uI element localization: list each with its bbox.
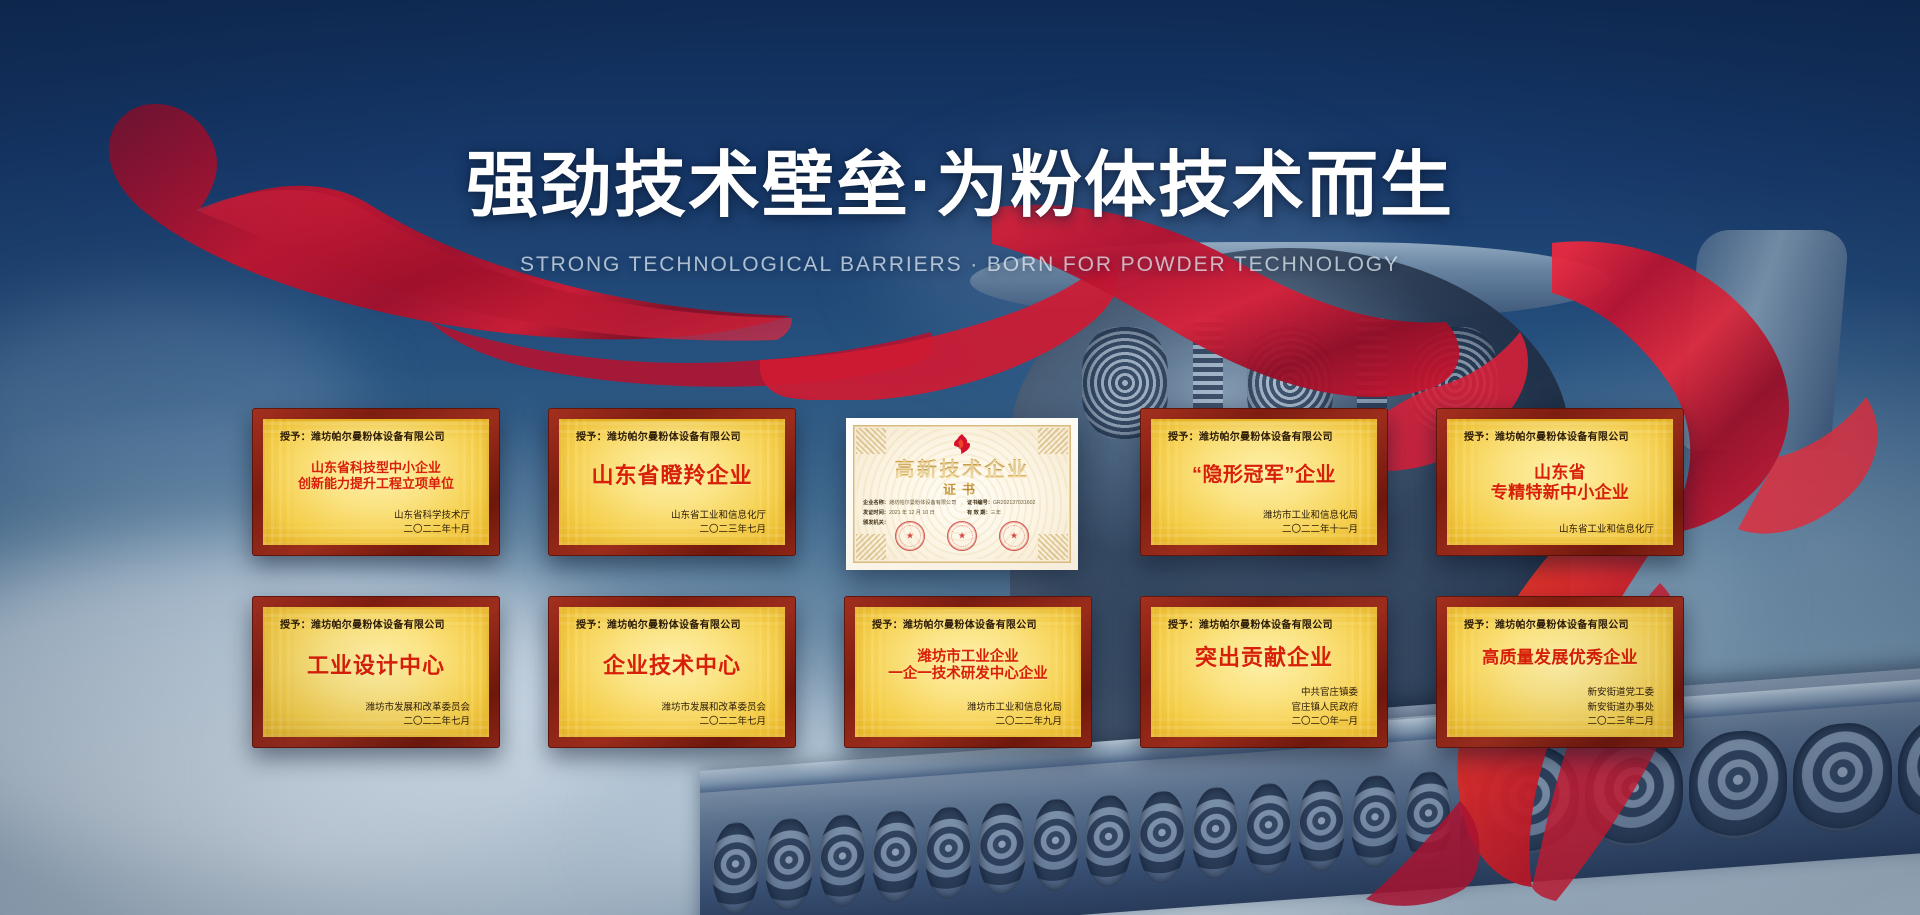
plaque-award-to: 授予：潍坊帕尔曼粉体设备有限公司 xyxy=(570,428,774,443)
plaque-issuer-line: 山东省工业和信息化厅 xyxy=(570,509,766,524)
flame-emblem-icon xyxy=(953,434,971,454)
corner-ornament xyxy=(856,428,886,454)
plaque-award-to: 授予：潍坊帕尔曼粉体设备有限公司 xyxy=(1162,616,1366,631)
plaque-title-line: 潍坊市工业企业 xyxy=(917,649,1019,666)
plaque-title: 企业技术中心 xyxy=(570,631,774,701)
field-value: 潍坊帕尔曼粉体设备有限公司 xyxy=(889,500,956,506)
field-label: 证书编号： xyxy=(967,500,993,506)
plaque-title-line: 专精特新中小企业 xyxy=(1491,483,1629,503)
high-tech-enterprise-certificate[interactable]: 高新技术企业 证书 企业名称：潍坊帕尔曼粉体设备有限公司 证书编号：GR2021… xyxy=(846,418,1078,570)
plaque-title: 高质量发展优秀企业 xyxy=(1458,631,1662,686)
plaque-card[interactable]: 授予：潍坊帕尔曼粉体设备有限公司 工业设计中心 潍坊市发展和改革委员会 二〇二二… xyxy=(252,596,500,748)
plaque-card[interactable]: 授予：潍坊帕尔曼粉体设备有限公司 山东省 专精特新中小企业 山东省工业和信息化厅 xyxy=(1436,408,1684,556)
plaque-card[interactable]: 授予：潍坊帕尔曼粉体设备有限公司 山东省瞪羚企业 山东省工业和信息化厅 二〇二三… xyxy=(548,408,796,556)
plaque-title-line: 突出贡献企业 xyxy=(1195,645,1333,671)
certificate-title: 高新技术企业 xyxy=(853,453,1071,482)
plaque-issuer: 山东省科学技术厅 二〇二二年十月 xyxy=(274,509,478,538)
plaque-card[interactable]: 授予：潍坊帕尔曼粉体设备有限公司 企业技术中心 潍坊市发展和改革委员会 二〇二二… xyxy=(548,596,796,748)
plaque-title: “隐形冠军”企业 xyxy=(1162,443,1366,509)
plaque-title: 山东省科技型中小企业 创新能力提升工程立项单位 xyxy=(274,443,478,509)
plaque-award-to: 授予：潍坊帕尔曼粉体设备有限公司 xyxy=(1458,616,1662,631)
seal-stamp-icon xyxy=(895,521,925,551)
plaque-issuer-line: 山东省科学技术厅 xyxy=(274,509,470,524)
corner-ornament xyxy=(1038,428,1068,454)
plaque-issuer: 潍坊市工业和信息化局 二〇二二年十一月 xyxy=(1162,509,1366,538)
seal-stamp-icon xyxy=(999,521,1029,551)
plaque-issuer: 山东省工业和信息化厅 二〇二三年七月 xyxy=(570,509,774,538)
plaque-issuer-date: 二〇二三年七月 xyxy=(570,523,766,538)
plaque-issuer-line: 官庄镇人民政府 xyxy=(1162,701,1358,716)
plaque-award-to: 授予：潍坊帕尔曼粉体设备有限公司 xyxy=(274,616,478,631)
plaque-title-line: 山东省 xyxy=(1534,463,1586,483)
plaque-issuer-date: 二〇二〇年一月 xyxy=(1162,715,1358,730)
field-value: 2021 年 12 月 10 日 xyxy=(889,510,935,516)
plaque-title-line: 创新能力提升工程立项单位 xyxy=(298,476,454,491)
certificate-field-row: 发证时间：2021 年 12 月 10 日 有 效 期：三年 xyxy=(863,509,1061,519)
plaque-issuer-line: 新安街道党工委 xyxy=(1458,686,1654,701)
plaque-issuer-line: 潍坊市工业和信息化局 xyxy=(1162,509,1358,524)
plaque-award-to: 授予：潍坊帕尔曼粉体设备有限公司 xyxy=(1458,428,1662,443)
plaque-title-line: 一企一技术研发中心企业 xyxy=(888,666,1048,683)
plaque-issuer: 潍坊市工业和信息化局 二〇二二年九月 xyxy=(866,701,1070,730)
field-value: GR202137031602 xyxy=(993,500,1035,506)
certificate-field-row: 企业名称：潍坊帕尔曼粉体设备有限公司 证书编号：GR202137031602 xyxy=(863,499,1061,509)
plaque-award-to: 授予：潍坊帕尔曼粉体设备有限公司 xyxy=(866,616,1070,631)
plaque-issuer: 山东省工业和信息化厅 xyxy=(1458,523,1662,538)
plaque-title: 突出贡献企业 xyxy=(1162,631,1366,686)
field-label: 发证时间： xyxy=(863,510,889,516)
banner-title: 强劲技术壁垒·为粉体技术而生 xyxy=(0,146,1920,227)
plaque-title-line: 企业技术中心 xyxy=(603,653,741,679)
plaque-issuer-line: 山东省工业和信息化厅 xyxy=(1458,523,1654,538)
plaque-issuer-line: 新安街道办事处 xyxy=(1458,701,1654,716)
plaque-card[interactable]: 授予：潍坊帕尔曼粉体设备有限公司 潍坊市工业企业 一企一技术研发中心企业 潍坊市… xyxy=(844,596,1092,748)
promo-banner: 强劲技术壁垒·为粉体技术而生 STRONG TECHNOLOGICAL BARR… xyxy=(0,0,1920,915)
plaque-issuer-line: 潍坊市发展和改革委员会 xyxy=(274,701,470,716)
plaque-title: 山东省 专精特新中小企业 xyxy=(1458,443,1662,523)
plaque-title-line: 山东省科技型中小企业 xyxy=(311,460,441,475)
plaque-issuer: 潍坊市发展和改革委员会 二〇二二年七月 xyxy=(570,701,774,730)
plaque-award-to: 授予：潍坊帕尔曼粉体设备有限公司 xyxy=(274,428,478,443)
plaque-issuer-date: 二〇二三年二月 xyxy=(1458,715,1654,730)
plaque-issuer: 中共官庄镇委 官庄镇人民政府 二〇二〇年一月 xyxy=(1162,686,1366,730)
plaque-card[interactable]: 授予：潍坊帕尔曼粉体设备有限公司 突出贡献企业 中共官庄镇委 官庄镇人民政府 二… xyxy=(1140,596,1388,748)
plaque-issuer-date: 二〇二二年七月 xyxy=(570,715,766,730)
field-label: 企业名称： xyxy=(863,500,889,506)
plaque-issuer-date: 二〇二二年十一月 xyxy=(1162,523,1358,538)
plaque-issuer-date: 二〇二二年十月 xyxy=(274,523,470,538)
certificate-seals xyxy=(853,521,1071,551)
plaque-issuer-date: 二〇二二年七月 xyxy=(274,715,470,730)
field-value: 三年 xyxy=(991,510,1001,516)
plaque-title-line: 高质量发展优秀企业 xyxy=(1482,648,1638,668)
plaque-title-line: “隐形冠军”企业 xyxy=(1192,464,1336,488)
plaque-title: 山东省瞪羚企业 xyxy=(570,443,774,509)
plaque-award-to: 授予：潍坊帕尔曼粉体设备有限公司 xyxy=(570,616,774,631)
plaque-title: 工业设计中心 xyxy=(274,631,478,701)
plaque-award-to: 授予：潍坊帕尔曼粉体设备有限公司 xyxy=(1162,428,1366,443)
banner-subtitle: STRONG TECHNOLOGICAL BARRIERS · BORN FOR… xyxy=(0,253,1920,277)
plaque-title: 潍坊市工业企业 一企一技术研发中心企业 xyxy=(866,631,1070,701)
plaque-title-line: 工业设计中心 xyxy=(307,653,445,679)
plaque-issuer-line: 潍坊市发展和改革委员会 xyxy=(570,701,766,716)
seal-stamp-icon xyxy=(947,521,977,551)
banner-headings: 强劲技术壁垒·为粉体技术而生 STRONG TECHNOLOGICAL BARR… xyxy=(0,146,1920,277)
plaque-card[interactable]: 授予：潍坊帕尔曼粉体设备有限公司 高质量发展优秀企业 新安街道党工委 新安街道办… xyxy=(1436,596,1684,748)
plaque-issuer-date: 二〇二二年九月 xyxy=(866,715,1062,730)
field-label: 有 效 期： xyxy=(967,510,991,516)
plaque-title-line: 山东省瞪羚企业 xyxy=(591,463,752,489)
plaque-issuer: 潍坊市发展和改革委员会 二〇二二年七月 xyxy=(274,701,478,730)
plaque-card[interactable]: 授予：潍坊帕尔曼粉体设备有限公司 “隐形冠军”企业 潍坊市工业和信息化局 二〇二… xyxy=(1140,408,1388,556)
plaque-issuer: 新安街道党工委 新安街道办事处 二〇二三年二月 xyxy=(1458,686,1662,730)
plaque-card[interactable]: 授予：潍坊帕尔曼粉体设备有限公司 山东省科技型中小企业 创新能力提升工程立项单位… xyxy=(252,408,500,556)
plaque-issuer-line: 中共官庄镇委 xyxy=(1162,686,1358,701)
plaque-issuer-line: 潍坊市工业和信息化局 xyxy=(866,701,1062,716)
certificate-subtitle: 证书 xyxy=(853,479,1071,498)
